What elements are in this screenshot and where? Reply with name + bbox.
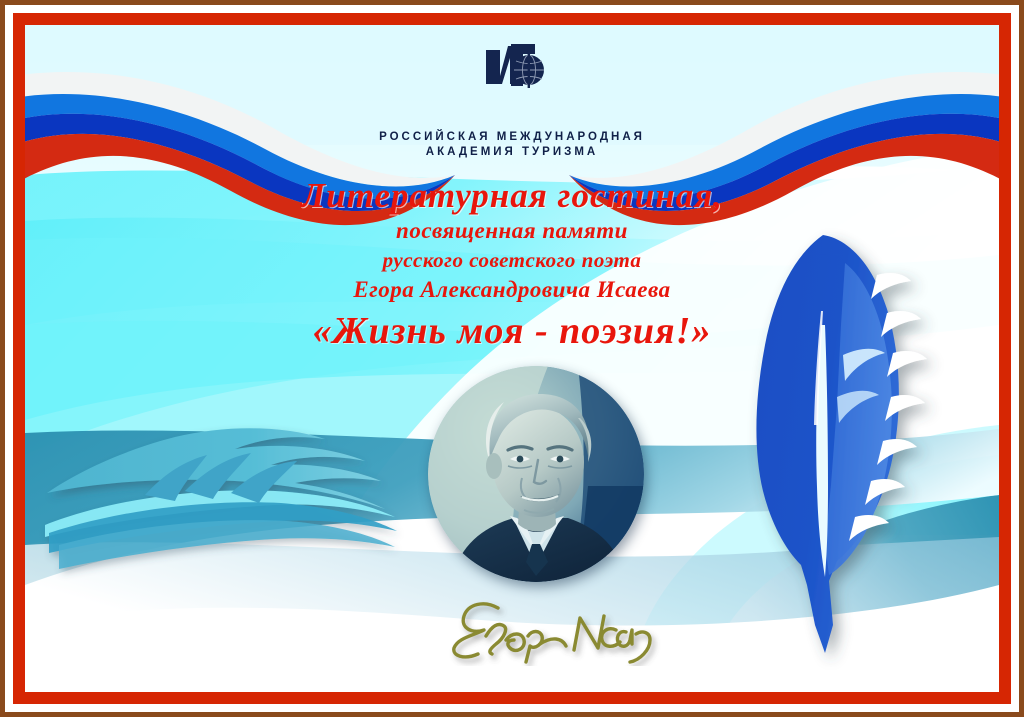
organization-line-1: РОССИЙСКАЯ МЕЖДУНАРОДНАЯ xyxy=(0,130,1024,145)
event-title-block: Литературная гостиная, посвященная памят… xyxy=(0,176,1024,355)
title-line-3: русского советского поэта xyxy=(0,246,1024,275)
organization-name: РОССИЙСКАЯ МЕЖДУНАРОДНАЯ АКАДЕМИЯ ТУРИЗМ… xyxy=(0,130,1024,160)
title-line-2: посвященная памяти xyxy=(0,216,1024,246)
title-line-1: Литературная гостиная, xyxy=(0,176,1024,216)
rmat-logo-icon xyxy=(483,36,547,98)
poet-signature xyxy=(440,596,670,666)
organization-line-2: АКАДЕМИЯ ТУРИЗМА xyxy=(0,145,1024,160)
poster-canvas: РОССИЙСКАЯ МЕЖДУНАРОДНАЯ АКАДЕМИЯ ТУРИЗМ… xyxy=(0,0,1024,717)
background-artwork xyxy=(25,25,999,692)
poet-portrait xyxy=(428,366,644,582)
title-quote: «Жизнь моя - поэзия!» xyxy=(0,307,1024,355)
title-line-4: Егора Александровича Исаева xyxy=(0,275,1024,305)
